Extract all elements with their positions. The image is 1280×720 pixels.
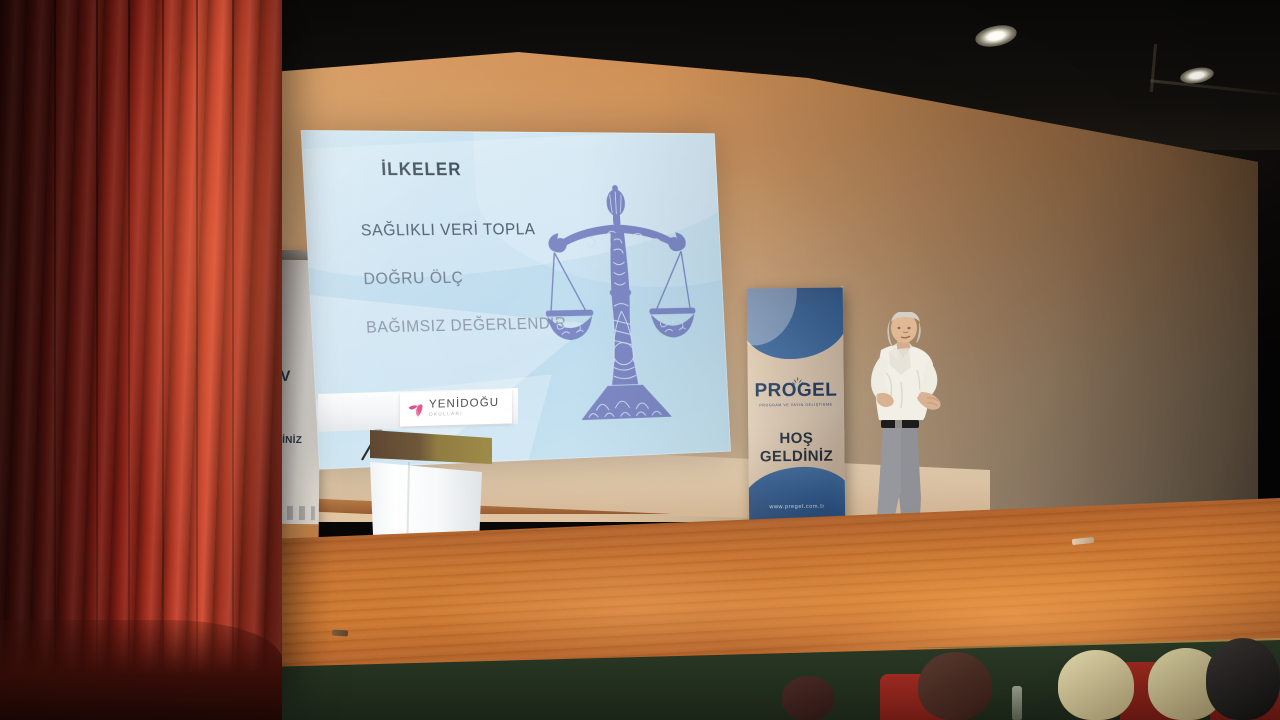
welcome-line-1: HOŞ <box>748 429 844 448</box>
podium-wood-band <box>370 428 492 464</box>
curtain-lighting <box>0 0 282 700</box>
yenidogu-logo-text: YENİDOĞU OKULLARI <box>429 398 499 418</box>
pink-bird-icon <box>407 400 424 417</box>
yenidogu-logo-main: YENİDOĞU <box>429 398 499 411</box>
floor-object <box>332 629 348 636</box>
welcome-line-2: GELDİNİZ <box>748 447 844 466</box>
curtain-hem <box>0 620 282 720</box>
yenidogu-logo-plate: YENİDOĞU OKULLARI <box>400 389 512 426</box>
banner-welcome-text: HOŞ GELDİNİZ <box>748 429 844 467</box>
progel-logo: PROGEL PROGRAM VE YAYIN GELİŞTİRME <box>748 380 844 408</box>
red-stage-curtain <box>0 0 282 700</box>
slide-title: İLKELER <box>381 159 462 180</box>
progel-tagline: PROGRAM VE YAYIN GELİŞTİRME <box>748 403 844 408</box>
banner-url: www.pregel.com.tr <box>749 503 845 510</box>
stage-photo-scene: V DİNİZ İLKELER SAĞLIKLI VERİ TOPLA DOĞR… <box>0 0 1280 720</box>
balance-scale-icon <box>525 184 714 433</box>
progel-rollup-banner: PROGEL PROGRAM VE YAYIN GELİŞTİRME HOŞ G… <box>747 288 845 525</box>
crown-icon <box>790 375 806 391</box>
yenidogu-logo-subtitle: OKULLARI <box>429 411 499 418</box>
banner-bottom-wave <box>747 467 845 525</box>
